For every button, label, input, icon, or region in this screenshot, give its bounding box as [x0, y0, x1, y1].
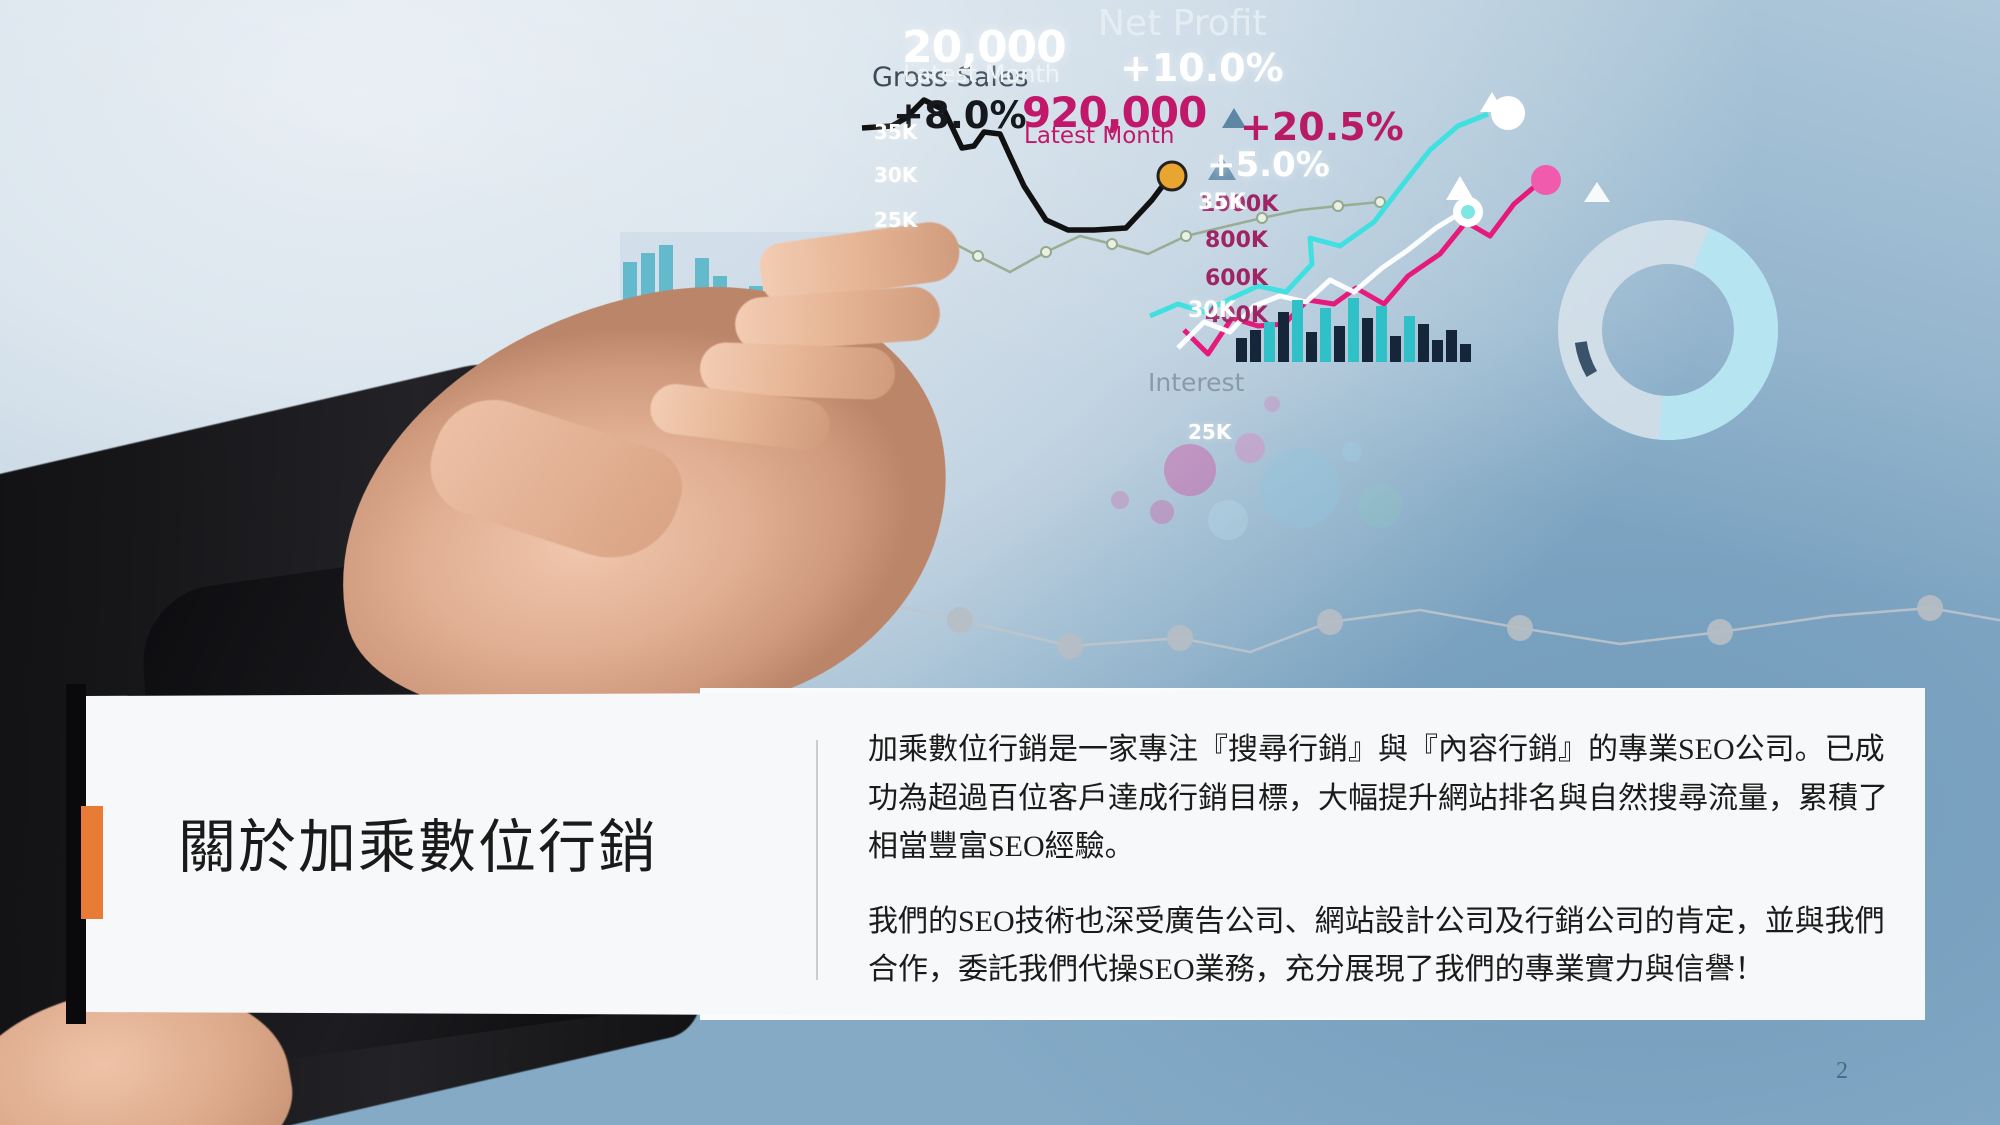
body-paragraph-2: 我們的SEO技術也深受廣告公司、網站設計公司及行銷公司的肯定，並與我們合作，委託… [868, 898, 1888, 995]
accent-bar [81, 806, 103, 919]
gross-tick-25k: 25K [874, 208, 917, 232]
bubble-cluster [1111, 396, 1402, 540]
gross-sales-endpoint [1158, 162, 1186, 190]
small-up-triangle-2 [1222, 108, 1246, 128]
gross-tick-35k: 35K [874, 120, 917, 144]
small-up-triangle-1 [1208, 157, 1236, 180]
small-up-triangle-3 [1584, 182, 1610, 202]
page-number: 2 [1836, 1058, 1848, 1085]
interest-tick-35k: 35K [1198, 190, 1246, 215]
dual-bar-chart [1236, 298, 1471, 362]
netprofit-tick-800k: 800K [1205, 228, 1268, 253]
page-title: 關於加乘數位行銷 [178, 815, 738, 882]
gross-tick-30k: 30K [874, 163, 917, 187]
donut-chart [1548, 210, 1788, 450]
body-paragraph-1: 加乘數位行銷是一家專注『搜尋行銷』與『內容行銷』的專業SEO公司。已成功為超過百… [868, 726, 1888, 872]
pink-line-endpoint [1531, 165, 1561, 195]
slide-canvas: Gross Sales 20,000 Latest Month +8.0% 92… [0, 0, 2000, 1125]
netprofit-tick-600k: 600K [1205, 266, 1268, 291]
interest-tick-25k: 25K [1188, 420, 1231, 444]
interest-tick-30k: 30K [1188, 298, 1236, 323]
vertical-divider [816, 740, 818, 980]
body-text: 加乘數位行銷是一家專注『搜尋行銷』與『內容行銷』的專業SEO公司。已成功為超過百… [868, 726, 1888, 995]
white-line-up-arrow [1446, 176, 1474, 200]
